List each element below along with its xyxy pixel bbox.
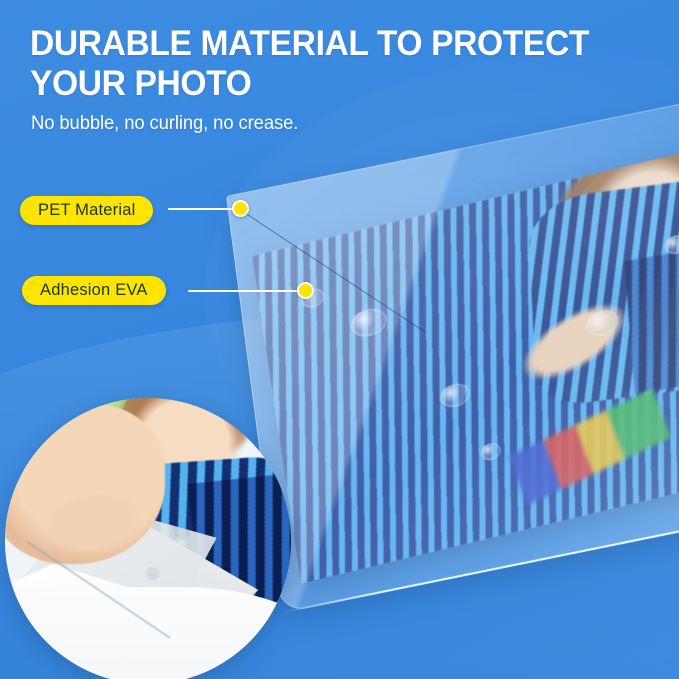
- product-feature-banner: DURABLE MATERIAL TO PROTECT YOUR PHOTO N…: [0, 0, 679, 679]
- laminate-highlight: [226, 84, 679, 613]
- peel-detail-inset: [5, 398, 291, 679]
- callout-leader-line: [188, 290, 310, 292]
- page-title: DURABLE MATERIAL TO PROTECT YOUR PHOTO: [30, 24, 606, 104]
- callout-label-eva[interactable]: Adhesion EVA: [22, 276, 166, 305]
- page-subtitle: No bubble, no curling, no crease.: [31, 113, 298, 135]
- callout-label-pet[interactable]: PET Material: [20, 196, 153, 225]
- callout-node-eva: [297, 282, 314, 299]
- pet-laminate-sheet: [226, 84, 679, 613]
- callout-node-pet: [232, 200, 249, 217]
